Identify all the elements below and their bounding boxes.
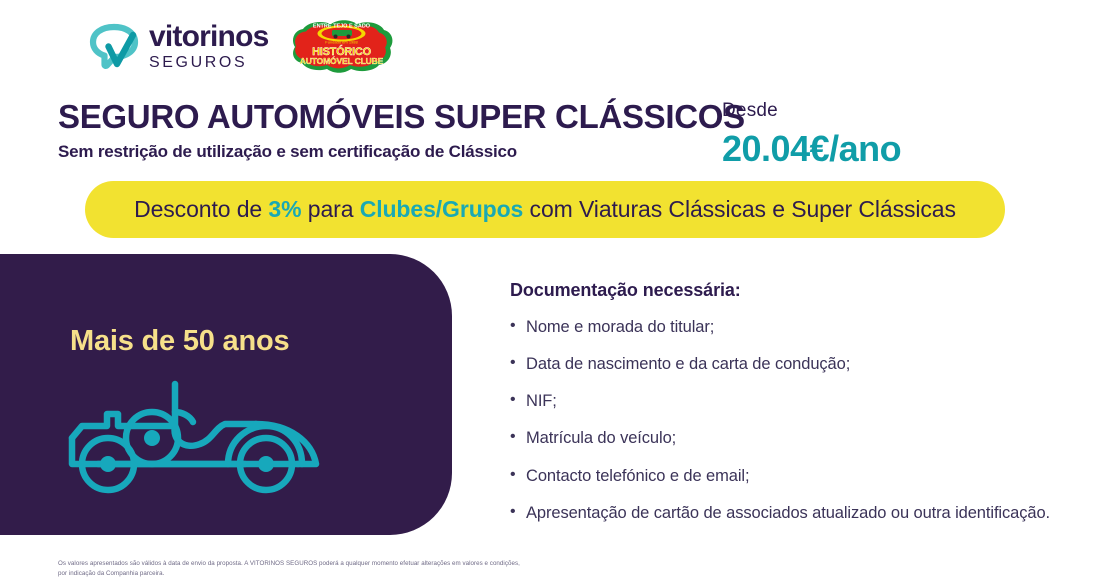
bullet-icon: • — [510, 504, 526, 521]
list-item: • Contacto telefónico e de email; — [510, 467, 1080, 485]
bullet-icon: • — [510, 318, 526, 335]
bullet-icon: • — [510, 392, 526, 409]
list-item-label: NIF; — [526, 392, 557, 410]
age-highlight-card: Mais de 50 anos — [0, 254, 452, 535]
classic-car-icon — [60, 376, 328, 496]
discount-suffix: com Viaturas Clássicas e Super Clássicas — [523, 196, 956, 222]
brand-tagline: SEGUROS — [149, 55, 268, 71]
documents-section: Documentação necessária: • Nome e morada… — [510, 280, 1080, 541]
card-title: Mais de 50 anos — [70, 325, 289, 358]
discount-percent: 3% — [268, 196, 301, 222]
list-item-label: Apresentação de cartão de associados atu… — [526, 504, 1050, 522]
bullet-icon: • — [510, 429, 526, 446]
list-item: • NIF; — [510, 392, 1080, 410]
disclaimer-text: Os valores apresentados são válidos à da… — [58, 559, 528, 579]
svg-text:Fundado em 1988: Fundado em 1988 — [326, 40, 359, 45]
list-item-label: Contacto telefónico e de email; — [526, 467, 749, 485]
price-value: 20.04€/ano — [722, 128, 901, 170]
discount-middle: para — [301, 196, 359, 222]
brand-name: vitorinos — [149, 22, 268, 52]
discount-banner: Desconto de 3% para Clubes/Grupos com Vi… — [85, 181, 1005, 238]
list-item-label: Data de nascimento e da carta de conduçã… — [526, 355, 850, 373]
price-block: Desde 20.04€/ano — [722, 100, 901, 170]
documents-list: • Nome e morada do titular; • Data de na… — [510, 318, 1080, 522]
headline-block: SEGURO AUTOMÓVEIS SUPER CLÁSSICOS Sem re… — [58, 100, 698, 162]
page-subtitle: Sem restrição de utilização e sem certif… — [58, 142, 698, 162]
bullet-icon: • — [510, 467, 526, 484]
list-item: • Apresentação de cartão de associados a… — [510, 504, 1080, 522]
list-item: • Nome e morada do titular; — [510, 318, 1080, 336]
discount-target: Clubes/Grupos — [360, 196, 524, 222]
list-item-label: Matrícula do veículo; — [526, 429, 676, 447]
vitorinos-bubble-check-icon — [88, 20, 140, 72]
vitorinos-wordmark: vitorinos SEGUROS — [149, 22, 268, 71]
header-logos: vitorinos SEGUROS ENTRE TEJO E SADO Fund… — [88, 14, 398, 78]
list-item: • Matrícula do veículo; — [510, 429, 1080, 447]
historico-automovel-clube-badge-icon: ENTRE TEJO E SADO Fundado em 1988 HISTÓR… — [286, 17, 398, 75]
list-item: • Data de nascimento e da carta de condu… — [510, 355, 1080, 373]
bullet-icon: • — [510, 355, 526, 372]
discount-prefix: Desconto de — [134, 196, 268, 222]
vitorinos-logo: vitorinos SEGUROS — [88, 20, 268, 72]
discount-text: Desconto de 3% para Clubes/Grupos com Vi… — [134, 196, 956, 223]
documents-title: Documentação necessária: — [510, 280, 1080, 301]
svg-text:ENTRE TEJO E SADO: ENTRE TEJO E SADO — [313, 24, 371, 30]
svg-text:AUTOMÓVEL CLUBE: AUTOMÓVEL CLUBE — [300, 55, 384, 66]
page-title: SEGURO AUTOMÓVEIS SUPER CLÁSSICOS — [58, 100, 698, 135]
price-label: Desde — [722, 100, 901, 122]
list-item-label: Nome e morada do titular; — [526, 318, 714, 336]
